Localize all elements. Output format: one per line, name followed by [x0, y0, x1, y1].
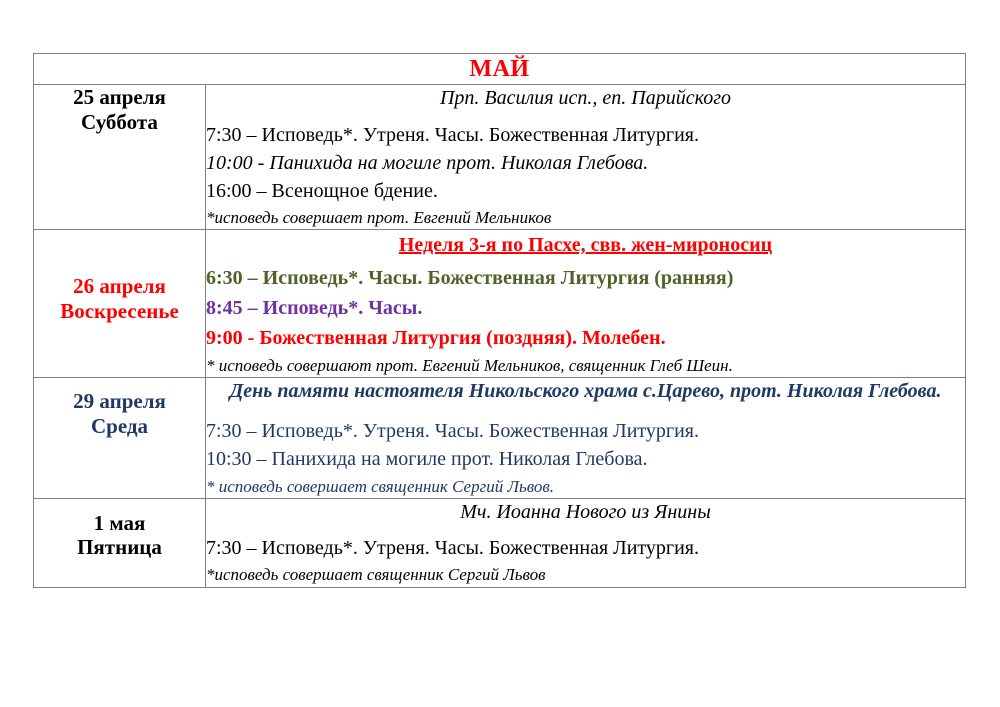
- date-day: 25 апреля: [34, 85, 205, 110]
- table-row: 1 мая Пятница Мч. Иоанна Нового из Янины…: [34, 498, 966, 587]
- date-weekday: Суббота: [34, 110, 205, 135]
- date-block: 25 апреля Суббота: [34, 85, 205, 135]
- services-cell: День памяти настоятеля Никольского храма…: [206, 377, 966, 498]
- table-row: 25 апреля Суббота Прп. Василия исп., еп.…: [34, 85, 966, 230]
- saint-commemoration: День памяти настоятеля Никольского храма…: [206, 378, 965, 404]
- service-schedule-table: МАЙ 25 апреля Суббота Прп. Василия исп.,…: [33, 53, 966, 588]
- confession-note: *исповедь совершает прот. Евгений Мельни…: [206, 207, 965, 229]
- services-cell: Неделя 3-я по Пасхе, свв. жен-мироносиц …: [206, 230, 966, 377]
- month-title: МАЙ: [34, 54, 965, 84]
- table-row: 26 апреля Воскресенье Неделя 3-я по Пасх…: [34, 230, 966, 377]
- service-line: 7:30 – Исповедь*. Утреня. Часы. Божестве…: [206, 535, 965, 562]
- date-day: 1 мая: [34, 511, 205, 536]
- services-cell: Мч. Иоанна Нового из Янины 7:30 – Испове…: [206, 498, 966, 587]
- schedule-body: МАЙ 25 апреля Суббота Прп. Василия исп.,…: [34, 54, 966, 588]
- date-block: 1 мая Пятница: [34, 511, 205, 561]
- saint-commemoration: Мч. Иоанна Нового из Янины: [206, 499, 965, 525]
- date-weekday: Воскресенье: [34, 299, 205, 324]
- month-header-cell: МАЙ: [34, 54, 966, 85]
- confession-note: * исповедь совершает священник Сергий Ль…: [206, 476, 965, 498]
- table-row: 29 апреля Среда День памяти настоятеля Н…: [34, 377, 966, 498]
- confession-note: *исповедь совершает священник Сергий Льв…: [206, 564, 965, 586]
- date-cell: 1 мая Пятница: [34, 498, 206, 587]
- service-line: 9:00 - Божественная Литургия (поздняя). …: [206, 325, 965, 352]
- date-block: 26 апреля Воскресенье: [34, 274, 205, 324]
- date-block: 29 апреля Среда: [34, 389, 205, 439]
- confession-note: * исповедь совершают прот. Евгений Мельн…: [206, 355, 965, 377]
- date-day: 26 апреля: [34, 274, 205, 299]
- services-cell: Прп. Василия исп., еп. Парийского 7:30 –…: [206, 85, 966, 230]
- saint-commemoration: Неделя 3-я по Пасхе, свв. жен-мироносиц: [206, 232, 965, 258]
- service-line: 16:00 – Всенощное бдение.: [206, 178, 965, 205]
- table-header-row: МАЙ: [34, 54, 966, 85]
- service-line: 8:45 – Исповедь*. Часы.: [206, 295, 965, 322]
- date-weekday: Среда: [34, 414, 205, 439]
- service-line: 10:30 – Панихида на могиле прот. Николая…: [206, 446, 965, 473]
- date-cell: 25 апреля Суббота: [34, 85, 206, 230]
- date-cell: 26 апреля Воскресенье: [34, 230, 206, 377]
- service-line: 7:30 – Исповедь*. Утреня. Часы. Божестве…: [206, 122, 965, 149]
- service-line: 6:30 – Исповедь*. Часы. Божественная Лит…: [206, 265, 965, 292]
- service-line: 10:00 - Панихида на могиле прот. Николая…: [206, 150, 965, 177]
- schedule-page: МАЙ 25 апреля Суббота Прп. Василия исп.,…: [0, 0, 1000, 707]
- date-weekday: Пятница: [34, 535, 205, 560]
- date-day: 29 апреля: [34, 389, 205, 414]
- date-cell: 29 апреля Среда: [34, 377, 206, 498]
- saint-commemoration: Прп. Василия исп., еп. Парийского: [206, 85, 965, 111]
- service-line: 7:30 – Исповедь*. Утреня. Часы. Божестве…: [206, 418, 965, 445]
